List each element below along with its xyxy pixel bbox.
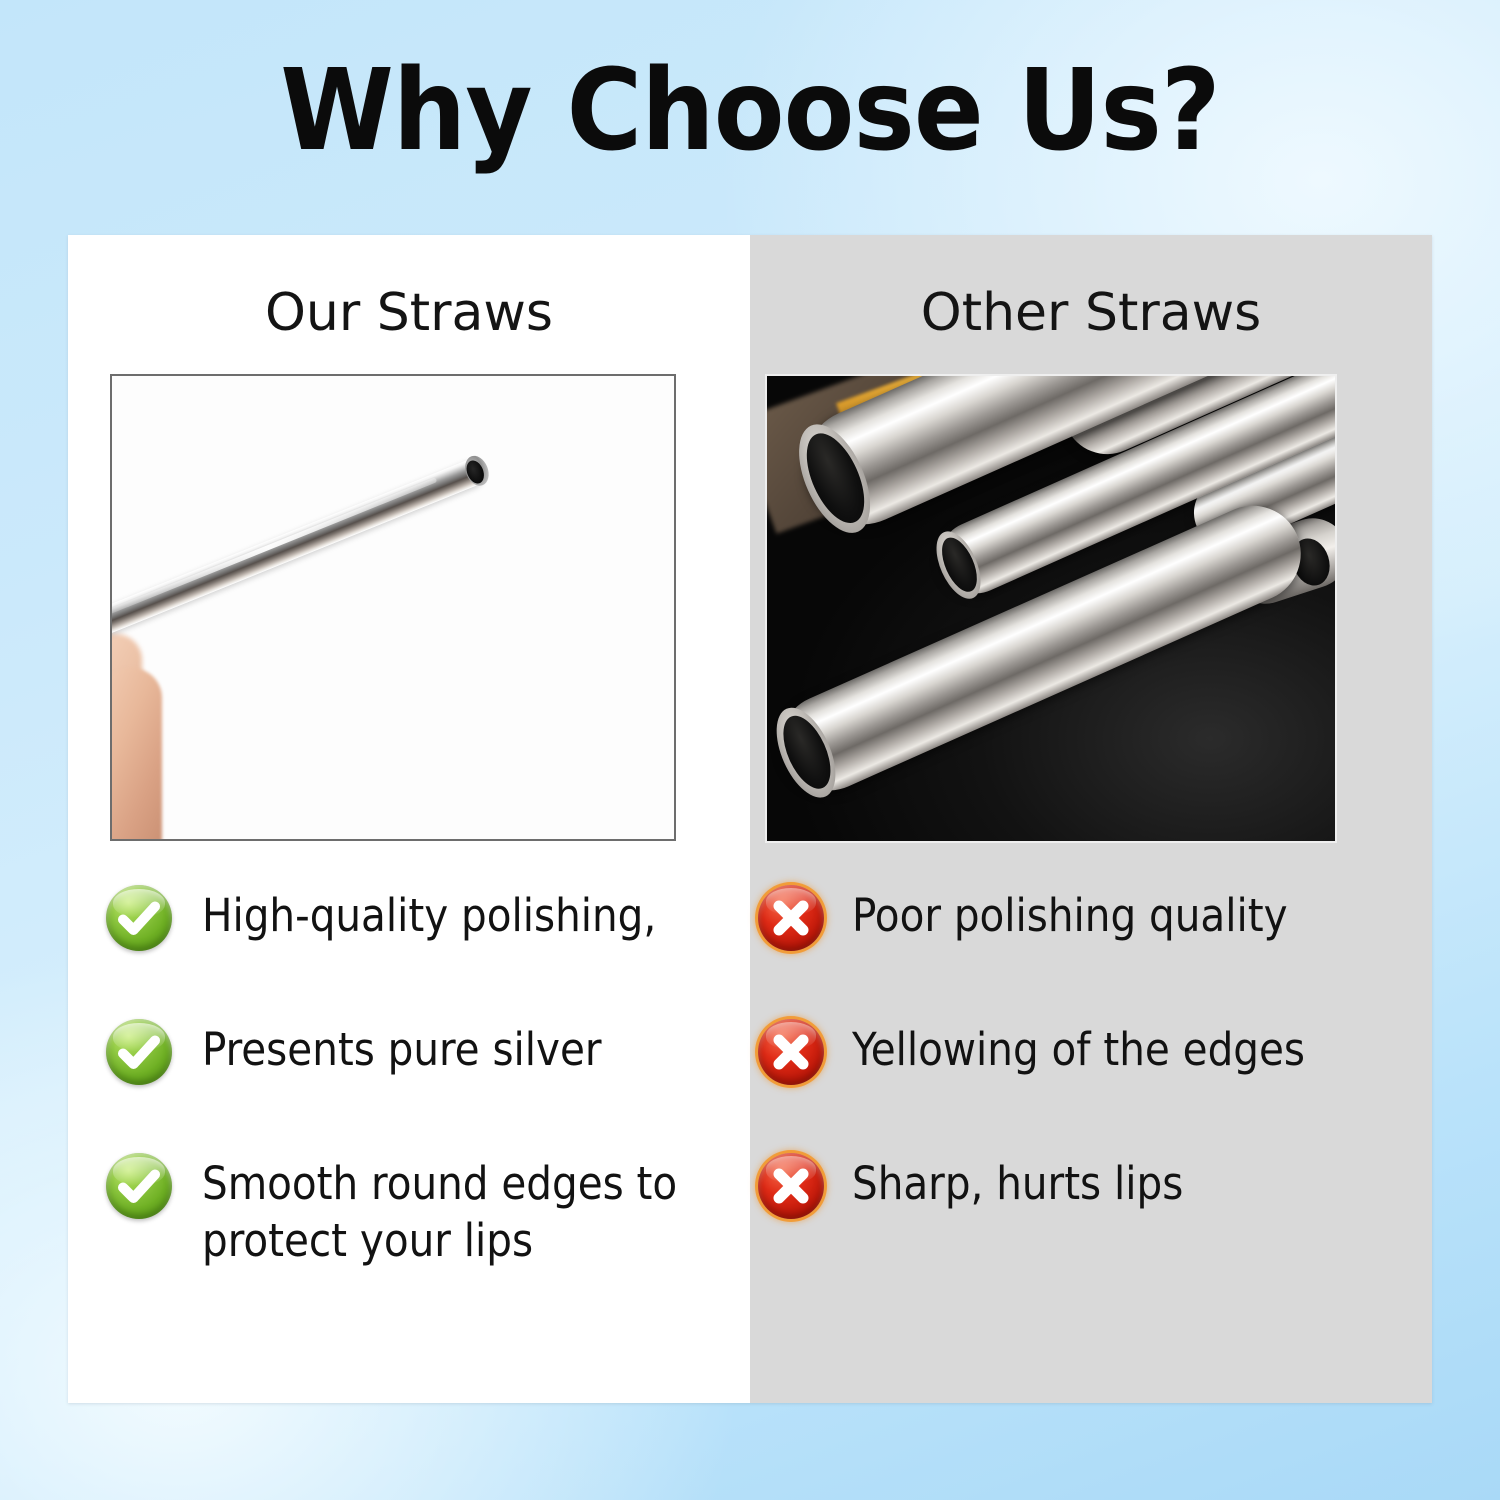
column-heading-other-straws: Other Straws [750, 283, 1432, 343]
other-straws-photo-art [767, 376, 1335, 841]
column-heading-our-straws: Our Straws [68, 283, 750, 343]
check-glyph [106, 1019, 172, 1085]
x-glyph [758, 1019, 824, 1085]
photo-other-straws [765, 374, 1337, 843]
benefit-list: High-quality polishing, Presents pure si… [68, 885, 750, 1337]
list-item: Smooth round edges to protect your lips [68, 1153, 750, 1269]
list-item: Sharp, hurts lips [750, 1153, 1432, 1219]
list-item: High-quality polishing, [68, 885, 750, 951]
check-circle-icon [106, 1153, 172, 1219]
list-item-label: Smooth round edges to protect your lips [202, 1153, 722, 1269]
our-straw-photo-art [112, 376, 674, 839]
x-circle-icon [758, 1019, 824, 1085]
comparison-board: Our Straws [68, 235, 1432, 1403]
list-item-label: Yellowing of the edges [852, 1019, 1305, 1078]
list-item: Presents pure silver [68, 1019, 750, 1085]
list-item-label: Presents pure silver [202, 1019, 602, 1078]
list-item: Yellowing of the edges [750, 1019, 1432, 1085]
check-circle-icon [106, 1019, 172, 1085]
list-item-label: Sharp, hurts lips [852, 1153, 1183, 1212]
straw-body [110, 456, 487, 638]
x-circle-icon [758, 1153, 824, 1219]
list-item-label: Poor polishing quality [852, 885, 1288, 944]
x-glyph [758, 1153, 824, 1219]
finger-primary [110, 668, 162, 841]
list-item-label: High-quality polishing, [202, 885, 656, 944]
check-glyph [106, 1153, 172, 1219]
list-item: Poor polishing quality [750, 885, 1432, 951]
x-glyph [758, 885, 824, 951]
page-title: Why Choose Us? [60, 52, 1440, 170]
check-glyph [106, 885, 172, 951]
x-circle-icon [758, 885, 824, 951]
photo-our-straws [110, 374, 676, 841]
check-circle-icon [106, 885, 172, 951]
column-other-straws: Other Straws [750, 235, 1432, 1403]
column-our-straws: Our Straws [68, 235, 750, 1403]
drawback-list: Poor polishing quality Yellowing of the … [750, 885, 1432, 1287]
infographic-canvas: Why Choose Us? Our Straws [0, 0, 1500, 1500]
